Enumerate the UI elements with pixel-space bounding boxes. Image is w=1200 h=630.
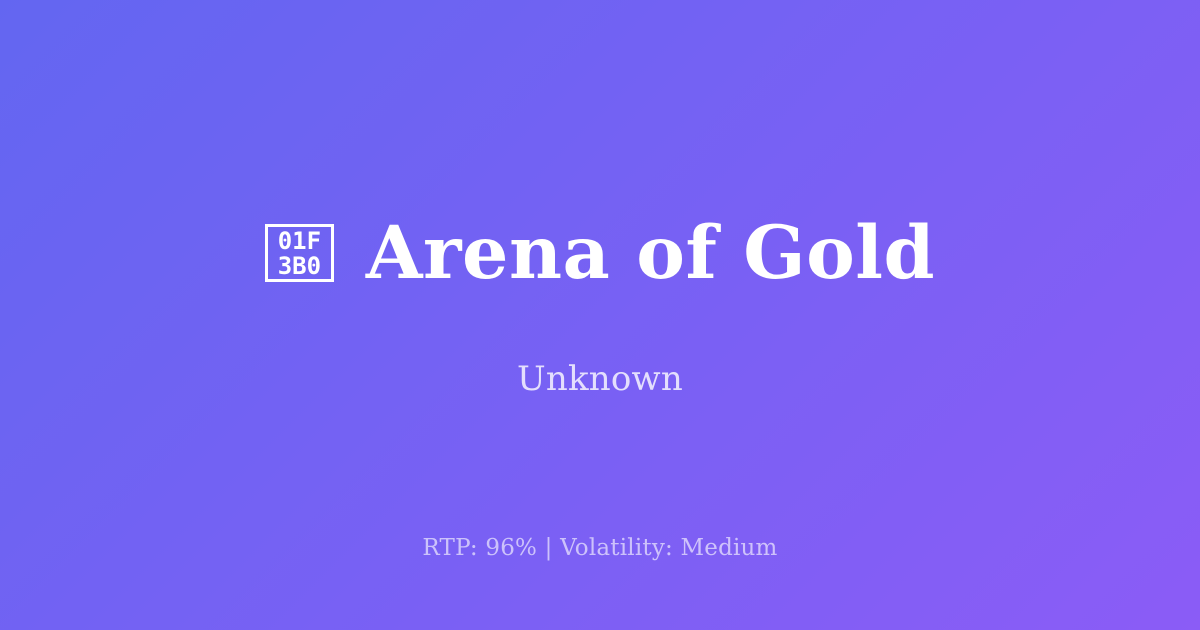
game-meta-line: RTP: 96% | Volatility: Medium [0, 537, 1200, 560]
title-row: 01F 3B0 Arena of Gold [265, 217, 935, 290]
tofu-codepoint-low: 3B0 [278, 254, 321, 279]
slot-machine-icon: 01F 3B0 [265, 224, 334, 282]
game-provider-subtitle: Unknown [517, 362, 683, 396]
og-share-card: 01F 3B0 Arena of Gold Unknown RTP: 96% |… [0, 0, 1200, 630]
tofu-codepoint-high: 01F [278, 229, 321, 254]
page-title: Arena of Gold [366, 217, 935, 290]
